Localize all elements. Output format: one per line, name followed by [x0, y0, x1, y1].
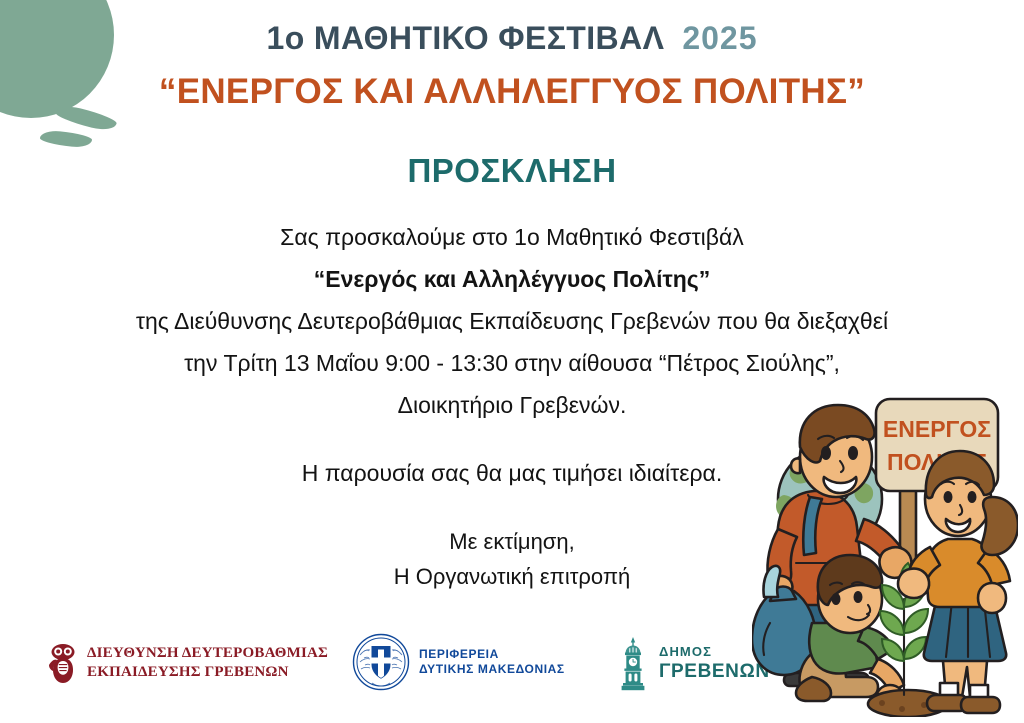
- owl-icon: [48, 641, 78, 685]
- logo-perifereia-line1: ΠΕΡΙΦΕΡΕΙΑ: [419, 647, 565, 662]
- logo-perifereia: ΠΕΡΙΦΕΡΕΙΑ ΔΥΤΙΚΗΣ ΜΑΚΕΔΟΝΙΑΣ: [352, 633, 565, 691]
- logo-dide-text: ΔΙΕΥΘΥΝΣΗ ΔΕΥΤΕΡΟΒΑΘΜΙΑΣ ΕΚΠΑΙΔΕΥΣΗΣ ΓΡΕ…: [87, 644, 328, 682]
- logo-dimos-grevenon: ΔΗΜΟΣ ΓΡΕΒΕΝΩΝ: [616, 637, 770, 691]
- invitation-heading: ΠΡΟΣΚΛΗΣΗ: [0, 152, 1024, 190]
- body-line-4: την Τρίτη 13 Μαΐου 9:00 - 13:30 στην αίθ…: [0, 342, 1024, 384]
- logo-dide-line2: ΕΚΠΑΙΔΕΥΣΗΣ ΓΡΕΒΕΝΩΝ: [87, 663, 328, 682]
- greek-coat-of-arms-icon: [352, 633, 410, 691]
- clock-tower-icon: [616, 637, 650, 691]
- festival-year: 2025: [682, 20, 757, 56]
- logo-dide-grevena: ΔΙΕΥΘΥΝΣΗ ΔΕΥΤΕΡΟΒΑΘΜΙΑΣ ΕΚΠΑΙΔΕΥΣΗΣ ΓΡΕ…: [48, 641, 328, 685]
- logo-dide-line1: ΔΙΕΥΘΥΝΣΗ ΔΕΥΤΕΡΟΒΑΘΜΙΑΣ: [87, 644, 328, 663]
- festival-subtitle: “ΕΝΕΡΓΟΣ ΚΑΙ ΑΛΛΗΛΕΓΓΥΟΣ ΠΟΛΙΤΗΣ”: [0, 72, 1024, 112]
- festival-title-row: 1ο ΜΑΘΗΤΙΚΟ ΦΕΣΤΙΒΑΛ2025: [0, 20, 1024, 57]
- body-line-1: Σας προσκαλούμε στο 1ο Μαθητικό Φεστιβάλ: [0, 216, 1024, 258]
- active-citizens-illustration: .ol{stroke:#231f20;stroke-width:2.6;stro…: [752, 387, 1018, 717]
- decorative-leaf-lower: [39, 129, 92, 148]
- body-line-3: της Διεύθυνσης Δευτεροβάθμιας Εκπαίδευση…: [0, 300, 1024, 342]
- invitation-poster: 1ο ΜΑΘΗΤΙΚΟ ΦΕΣΤΙΒΑΛ2025 “ΕΝΕΡΓΟΣ ΚΑΙ ΑΛ…: [0, 0, 1024, 723]
- festival-title: 1ο ΜΑΘΗΤΙΚΟ ΦΕΣΤΙΒΑΛ: [267, 20, 665, 56]
- logo-perifereia-text: ΠΕΡΙΦΕΡΕΙΑ ΔΥΤΙΚΗΣ ΜΑΚΕΔΟΝΙΑΣ: [419, 647, 565, 677]
- sign-line-1: ΕΝΕΡΓΟΣ: [883, 416, 991, 442]
- logo-perifereia-line2: ΔΥΤΙΚΗΣ ΜΑΚΕΔΟΝΙΑΣ: [419, 662, 565, 677]
- body-line-2: “Ενεργός και Αλληλέγγυος Πολίτης”: [0, 258, 1024, 300]
